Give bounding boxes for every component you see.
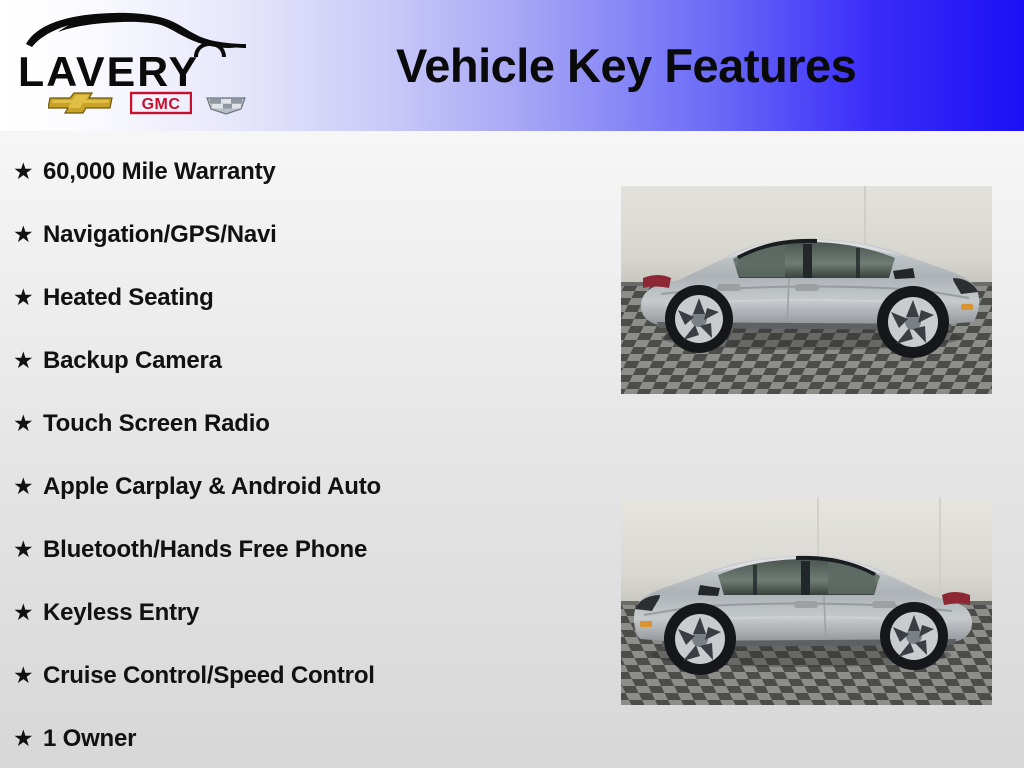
page-title: Vehicle Key Features [396, 38, 856, 93]
star-bullet-icon: ★ [13, 601, 43, 624]
vehicle-photo-driver-side-image [621, 497, 992, 705]
chevrolet-bowtie-icon [48, 90, 114, 116]
feature-label: Heated Seating [43, 284, 214, 312]
feature-label: Navigation/GPS/Navi [43, 221, 277, 249]
feature-label: Backup Camera [43, 347, 222, 375]
cadillac-crest-icon [204, 90, 248, 116]
star-bullet-icon: ★ [13, 664, 43, 687]
feature-label: Keyless Entry [43, 599, 199, 627]
vehicle-features-slide: LAVERY GMC [0, 0, 1024, 768]
feature-item-2: ★ Heated Seating [0, 266, 600, 329]
feature-item-7: ★ Keyless Entry [0, 581, 600, 644]
vehicle-photo-passenger-side[interactable] [621, 186, 992, 394]
feature-item-0: ★ 60,000 Mile Warranty [0, 140, 600, 203]
feature-label: Apple Carplay & Android Auto [43, 473, 381, 501]
feature-item-5: ★ Apple Carplay & Android Auto [0, 455, 600, 518]
dealer-wordmark: LAVERY [18, 48, 250, 94]
feature-item-4: ★ Touch Screen Radio [0, 392, 600, 455]
svg-text:GMC: GMC [142, 96, 181, 113]
feature-item-8: ★ Cruise Control/Speed Control [0, 644, 600, 707]
star-bullet-icon: ★ [13, 160, 43, 183]
svg-text:LAVERY: LAVERY [18, 48, 199, 94]
star-bullet-icon: ★ [13, 475, 43, 498]
feature-item-3: ★ Backup Camera [0, 329, 600, 392]
star-bullet-icon: ★ [13, 538, 43, 561]
star-bullet-icon: ★ [13, 349, 43, 372]
brand-badges: GMC [44, 90, 250, 118]
feature-item-6: ★ Bluetooth/Hands Free Phone [0, 518, 600, 581]
dealer-logo: LAVERY GMC [18, 8, 250, 120]
star-bullet-icon: ★ [13, 286, 43, 309]
vehicle-photo-passenger-side-image [621, 186, 992, 394]
vehicle-photo-driver-side[interactable] [621, 497, 992, 705]
feature-label: 1 Owner [43, 725, 136, 753]
star-bullet-icon: ★ [13, 412, 43, 435]
gmc-wordmark-icon: GMC [130, 90, 192, 116]
header-banner: LAVERY GMC [0, 0, 1024, 131]
feature-item-9: ★ 1 Owner [0, 707, 600, 770]
star-bullet-icon: ★ [13, 727, 43, 750]
star-bullet-icon: ★ [13, 223, 43, 246]
feature-label: Cruise Control/Speed Control [43, 662, 375, 690]
feature-item-1: ★ Navigation/GPS/Navi [0, 203, 600, 266]
feature-label: Bluetooth/Hands Free Phone [43, 536, 367, 564]
feature-label: 60,000 Mile Warranty [43, 158, 276, 186]
features-list: ★ 60,000 Mile Warranty ★ Navigation/GPS/… [0, 140, 600, 770]
feature-label: Touch Screen Radio [43, 410, 270, 438]
